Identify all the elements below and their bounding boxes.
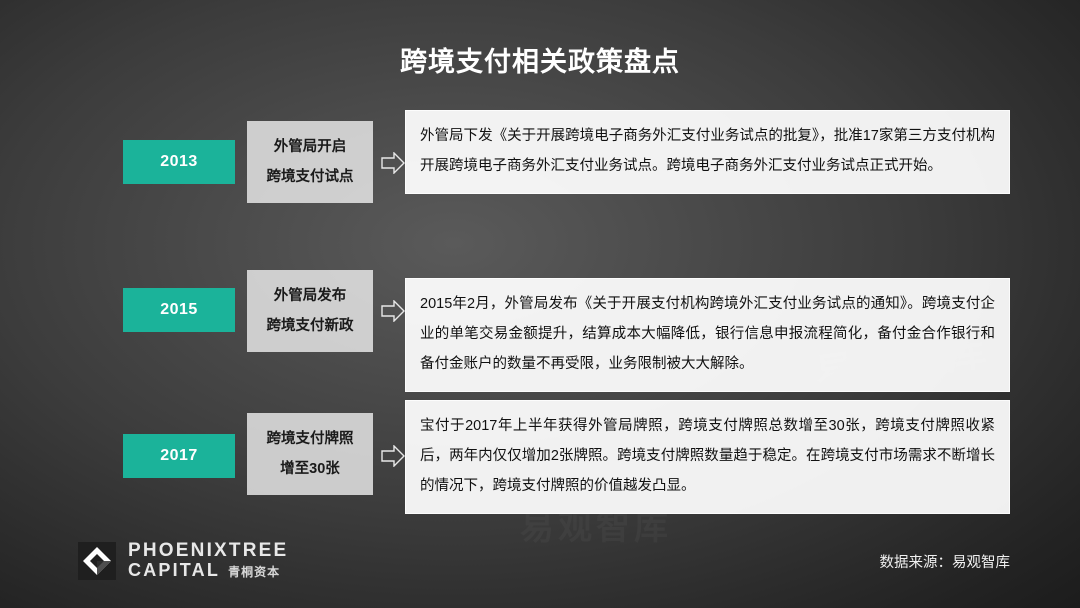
year-badge-2017: 2017	[123, 434, 235, 478]
policy-description-2017: 宝付于2017年上半年获得外管局牌照，跨境支付牌照总数增至30张，跨境支付牌照收…	[405, 400, 1010, 514]
policy-label-line1: 跨境支付牌照	[247, 424, 373, 454]
brand-name-line2: CAPITAL 青桐资本	[128, 561, 288, 580]
page-title: 跨境支付相关政策盘点	[0, 40, 1080, 79]
brand-name-chinese: 青桐资本	[228, 566, 280, 579]
brand-name-capital: CAPITAL	[128, 561, 220, 580]
slide-canvas: 易观智库 易观智库 跨境支付相关政策盘点 2013 外管局开启 跨境支付试点 外…	[0, 0, 1080, 608]
policy-label-2013: 外管局开启 跨境支付试点	[247, 121, 373, 203]
year-badge-2013: 2013	[123, 140, 235, 184]
policy-label-line2: 增至30张	[247, 454, 373, 484]
policy-label-2015: 外管局发布 跨境支付新政	[247, 270, 373, 352]
policy-label-line2: 跨境支付试点	[247, 162, 373, 192]
year-badge-2015: 2015	[123, 288, 235, 332]
policy-label-line1: 外管局发布	[247, 281, 373, 311]
policy-label-line1: 外管局开启	[247, 132, 373, 162]
arrow-right-icon	[381, 445, 405, 467]
arrow-right-icon	[381, 152, 405, 174]
policy-label-2017: 跨境支付牌照 增至30张	[247, 413, 373, 495]
brand-name-line1: PHOENIXTREE	[128, 541, 288, 561]
arrow-right-icon	[381, 300, 405, 322]
policy-description-2013: 外管局下发《关于开展跨境电子商务外汇支付业务试点的批复》，批准17家第三方支付机…	[405, 110, 1010, 194]
data-source-note: 数据来源：易观智库	[880, 551, 1011, 572]
policy-label-line2: 跨境支付新政	[247, 311, 373, 341]
policy-description-2015: 2015年2月，外管局发布《关于开展支付机构跨境外汇支付业务试点的通知》。跨境支…	[405, 278, 1010, 392]
brand-name: PHOENIXTREE CAPITAL 青桐资本	[128, 541, 288, 580]
phoenixtree-logo-icon	[78, 542, 116, 580]
brand-logo: PHOENIXTREE CAPITAL 青桐资本	[78, 541, 288, 580]
